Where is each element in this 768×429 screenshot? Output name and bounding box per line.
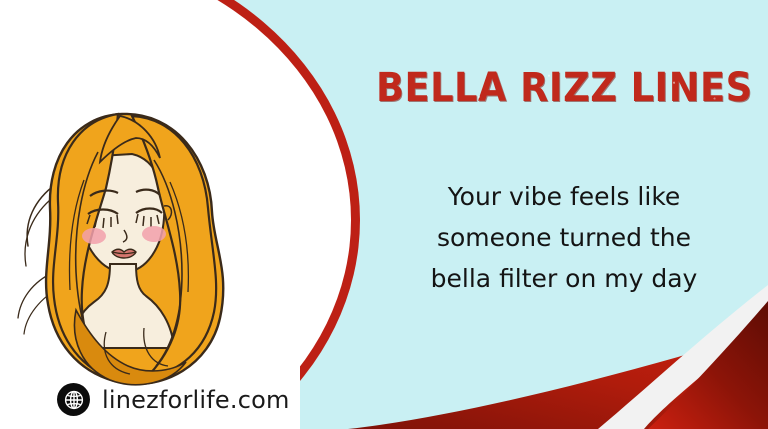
girl-illustration <box>14 96 244 386</box>
headline-text: BELLA RIZZ LINES <box>376 65 753 111</box>
page-title: BELLA RIZZ LINES <box>376 66 744 110</box>
brand-footer: linezforlife.com <box>57 383 290 416</box>
corner-swoosh <box>348 279 768 429</box>
globe-icon <box>57 383 90 416</box>
quote-line-3: bella filter on my day <box>394 258 734 299</box>
quote-block: Your vibe feels like someone turned the … <box>394 176 734 299</box>
quote-line-1: Your vibe feels like <box>394 176 734 217</box>
poster-canvas: BELLA RIZZ LINES Your vibe feels like so… <box>0 0 768 429</box>
quote-line-2: someone turned the <box>394 217 734 258</box>
brand-domain-text: linezforlife.com <box>102 386 290 414</box>
